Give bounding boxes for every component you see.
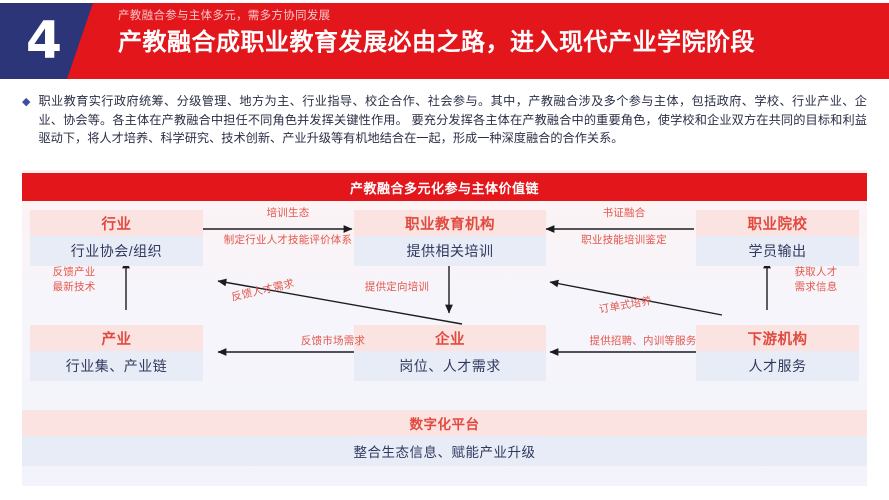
node-downstream-body: 人才服务 bbox=[696, 351, 859, 381]
node-industry-header: 行业 bbox=[30, 210, 203, 236]
node-voc-school-header: 职业院校 bbox=[696, 210, 859, 236]
label-cert-fusion: 书证融合 bbox=[550, 206, 698, 220]
node-voc-school[interactable]: 职业院校 学员输出 bbox=[696, 210, 859, 266]
header-subtitle: 产教融合参与主体多元，需多方协同发展 bbox=[118, 10, 879, 24]
node-industry[interactable]: 行业 行业协会/组织 bbox=[30, 210, 203, 266]
section-number: 4 bbox=[0, 3, 88, 79]
node-voc-org-header: 职业教育机构 bbox=[354, 210, 546, 236]
label-train-ecosystem: 培训生态 bbox=[224, 206, 352, 220]
node-voc-org-body: 提供相关培训 bbox=[354, 236, 546, 266]
slide-page: 4 产教融合参与主体多元，需多方协同发展 产教融合成职业教育发展必由之路，进入现… bbox=[0, 0, 889, 500]
node-enterprise-body: 岗位、人才需求 bbox=[354, 351, 546, 381]
node-sector[interactable]: 产业 行业集、产业链 bbox=[30, 325, 203, 381]
label-recruit-service: 提供招聘、内训等服务 bbox=[560, 334, 726, 348]
page-title: 产教融合成职业教育发展必由之路，进入现代产业学院阶段 bbox=[118, 29, 879, 57]
node-platform[interactable]: 数字化平台 整合生态信息、赋能产业升级 bbox=[22, 410, 867, 466]
node-industry-body: 行业协会/组织 bbox=[30, 236, 203, 266]
label-get-talent-demand-line2: 需求信息 bbox=[778, 280, 854, 294]
label-feedback-industry-line2: 最新技术 bbox=[36, 280, 112, 294]
body-paragraph-block: ◆ 职业教育实行政府统筹、分级管理、地方为主、行业指导、校企合作、社会参与。其中… bbox=[22, 92, 867, 148]
slide-header: 4 产教融合参与主体多元，需多方协同发展 产教融合成职业教育发展必由之路，进入现… bbox=[0, 3, 889, 79]
label-feedback-industry-line1: 反馈产业 bbox=[36, 265, 112, 279]
node-voc-org[interactable]: 职业教育机构 提供相关培训 bbox=[354, 210, 546, 266]
node-sector-body: 行业集、产业链 bbox=[30, 351, 203, 381]
label-eval-system: 制定行业人才技能评价体系 bbox=[208, 233, 368, 247]
node-platform-body: 整合生态信息、赋能产业升级 bbox=[22, 436, 867, 466]
value-chain-panel: 产教融合多元化参与主体价值链 bbox=[22, 170, 867, 486]
label-feedback-market: 反馈市场需求 bbox=[250, 334, 416, 348]
label-directed-training: 提供定向培训 bbox=[352, 280, 442, 294]
label-skill-cert: 职业技能培训鉴定 bbox=[550, 233, 698, 247]
label-get-talent-demand-line1: 获取人才 bbox=[778, 265, 854, 279]
node-voc-school-body: 学员输出 bbox=[696, 236, 859, 266]
node-platform-header: 数字化平台 bbox=[22, 410, 867, 436]
body-paragraph: 职业教育实行政府统筹、分级管理、地方为主、行业指导、校企合作、社会参与。其中，产… bbox=[38, 92, 867, 148]
bullet-diamond-icon: ◆ bbox=[22, 92, 30, 148]
node-sector-header: 产业 bbox=[30, 325, 203, 351]
header-text-group: 产教融合参与主体多元，需多方协同发展 产教融合成职业教育发展必由之路，进入现代产… bbox=[118, 10, 879, 56]
